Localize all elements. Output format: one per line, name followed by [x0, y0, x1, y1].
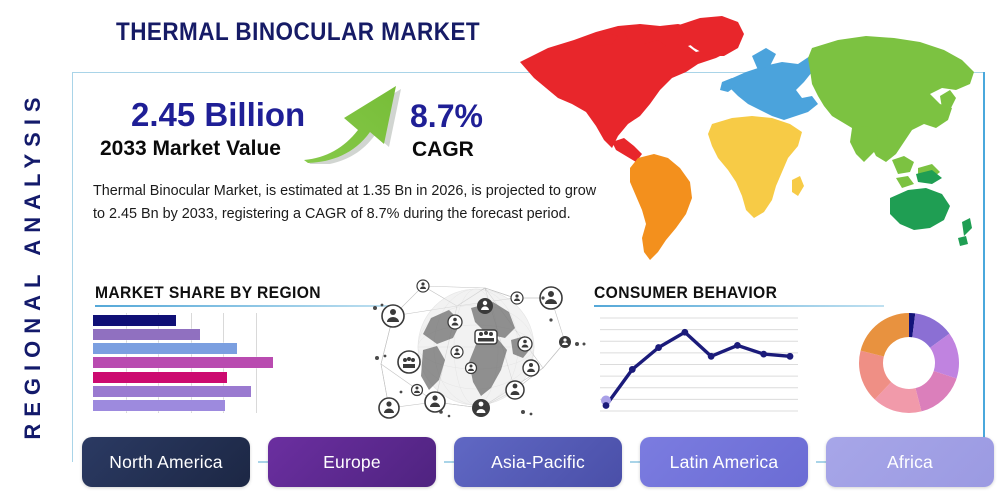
- network-node-icon: [412, 385, 423, 396]
- market-value-label: 2033 Market Value: [100, 137, 281, 161]
- region-button-bar: North AmericaEuropeAsia-PacificLatin Ame…: [82, 437, 962, 487]
- infographic-page: REGIONAL ANALYSIS THERMAL BINOCULAR MARK…: [0, 0, 1000, 500]
- bar-segment: [93, 343, 237, 354]
- market-share-heading: MARKET SHARE BY REGION: [95, 283, 321, 303]
- region-button-europe[interactable]: Europe: [268, 437, 436, 487]
- line-data-point: [681, 329, 688, 336]
- market-value-figure: 2.45 Billion: [131, 96, 305, 134]
- regional-distribution-donut-chart: [856, 310, 962, 416]
- region-button-africa[interactable]: Africa: [826, 437, 994, 487]
- bar-segment: [93, 357, 273, 368]
- region-connector-line: [444, 461, 454, 463]
- growth-arrow-icon: [300, 82, 405, 164]
- consumer-behavior-line-chart: [600, 312, 798, 417]
- bar-segment: [93, 372, 227, 383]
- bar-segment: [93, 329, 200, 340]
- consumer-behavior-heading: CONSUMER BEHAVIOR: [594, 283, 777, 303]
- donut-segment: [915, 371, 956, 411]
- network-group-icon: [475, 330, 497, 344]
- global-network-graphic: [365, 272, 587, 422]
- line-data-point: [629, 366, 636, 373]
- region-button-north-america[interactable]: North America: [82, 437, 250, 487]
- network-node-icon: [466, 363, 477, 374]
- region-connector-line: [258, 461, 268, 463]
- network-node-icon: [417, 280, 429, 292]
- map-region-south-america: [630, 154, 692, 260]
- region-button-latin-america[interactable]: Latin America: [640, 437, 808, 487]
- map-region-new-zealand: [958, 218, 972, 246]
- network-node-icon: [472, 399, 490, 417]
- consumer-behavior-underline: [594, 305, 884, 307]
- market-share-underline: [95, 305, 393, 307]
- bar-segment: [93, 386, 251, 397]
- region-button-asia-pacific[interactable]: Asia-Pacific: [454, 437, 622, 487]
- map-region-australia: [890, 188, 950, 230]
- network-node-icon: [506, 381, 524, 399]
- cagr-label: CAGR: [412, 138, 474, 162]
- network-group-icon: [398, 351, 420, 373]
- line-data-point: [603, 402, 610, 409]
- world-map-graphic: [500, 12, 990, 270]
- map-region-madagascar: [792, 176, 804, 196]
- network-node-icon: [425, 392, 445, 412]
- map-region-africa: [708, 116, 802, 218]
- line-data-point: [708, 353, 715, 360]
- network-node-icon: [518, 337, 532, 351]
- page-title: THERMAL BINOCULAR MARKET: [116, 18, 480, 47]
- network-node-icon: [511, 292, 523, 304]
- map-region-japan: [940, 90, 956, 110]
- network-node-icon: [523, 360, 539, 376]
- network-node-icon: [559, 336, 571, 348]
- line-data-point: [655, 344, 662, 351]
- market-share-bar-chart: [93, 313, 288, 413]
- bar-segment: [93, 400, 225, 411]
- network-node-icon: [477, 298, 493, 314]
- map-region-central-america: [612, 138, 642, 162]
- region-connector-line: [816, 461, 826, 463]
- network-node-icon: [382, 305, 404, 327]
- bar-segment: [93, 315, 176, 326]
- network-node-icon: [379, 398, 399, 418]
- donut-segment: [861, 313, 909, 357]
- network-node-icon: [451, 346, 463, 358]
- line-data-point: [760, 351, 767, 358]
- line-data-point: [734, 342, 741, 349]
- regional-analysis-side-label: REGIONAL ANALYSIS: [11, 75, 55, 455]
- region-connector-line: [630, 461, 640, 463]
- line-data-point: [787, 353, 794, 360]
- network-node-icon: [448, 315, 462, 329]
- cagr-figure: 8.7%: [410, 98, 483, 135]
